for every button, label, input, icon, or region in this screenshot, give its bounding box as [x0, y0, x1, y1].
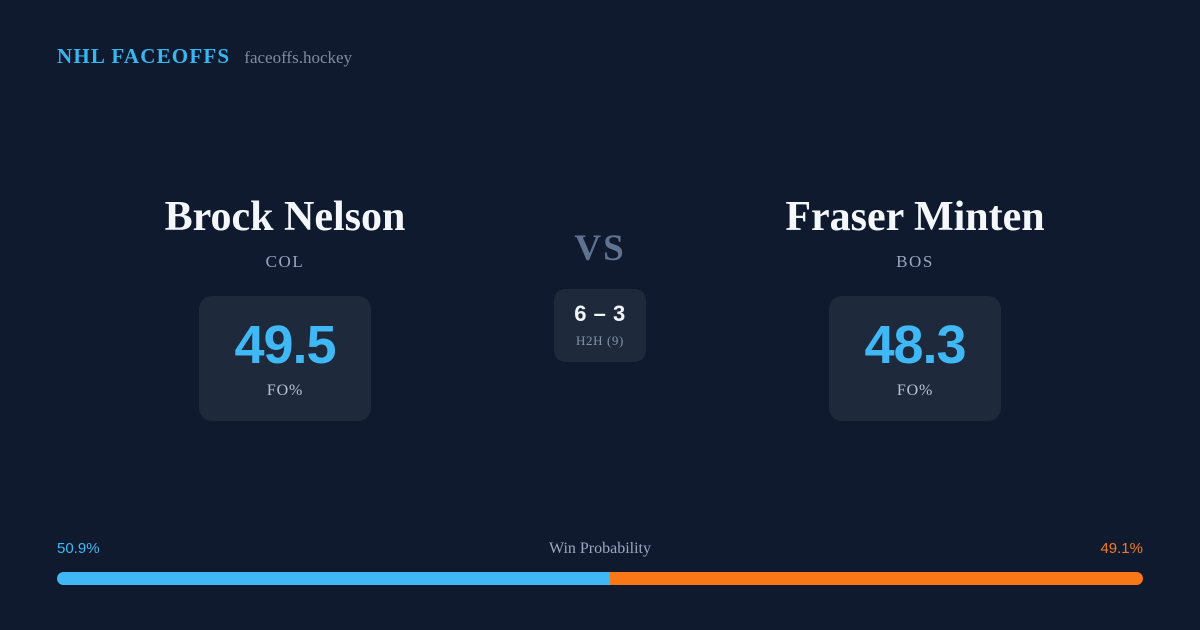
- player-card-right: Fraser Minten BOS 48.3 FO%: [675, 192, 1155, 421]
- site-header: NHL FACEOFFS faceoffs.hockey: [57, 44, 352, 69]
- win-probability-bar: [57, 572, 1143, 585]
- matchup-section: Brock Nelson COL 49.5 FO% VS 6 – 3 H2H (…: [0, 192, 1200, 421]
- stat-card-left: 49.5 FO%: [199, 296, 371, 421]
- win-probability-bar-left: [57, 572, 610, 585]
- win-probability-title: Win Probability: [549, 540, 651, 558]
- stat-value-right: 48.3: [864, 318, 965, 372]
- brand-domain: faceoffs.hockey: [244, 48, 352, 68]
- player-team-left: COL: [266, 252, 305, 272]
- head-to-head-score: 6 – 3: [574, 303, 625, 325]
- brand-title: NHL FACEOFFS: [57, 44, 230, 69]
- versus-label: VS: [574, 230, 625, 267]
- stat-label-right: FO%: [897, 382, 933, 400]
- win-probability-left-value: 50.9%: [57, 540, 100, 557]
- page-canvas: NHL FACEOFFS faceoffs.hockey Brock Nelso…: [0, 0, 1200, 630]
- win-probability-labels: 50.9% Win Probability 49.1%: [57, 540, 1143, 562]
- win-probability-bar-right: [610, 572, 1143, 585]
- stat-value-left: 49.5: [234, 318, 335, 372]
- win-probability-right-value: 49.1%: [1100, 540, 1143, 557]
- player-card-left: Brock Nelson COL 49.5 FO%: [45, 192, 525, 421]
- versus-column: VS 6 – 3 H2H (9): [525, 192, 675, 362]
- player-name-left: Brock Nelson: [165, 192, 406, 242]
- player-name-right: Fraser Minten: [785, 192, 1044, 242]
- player-team-right: BOS: [896, 252, 934, 272]
- head-to-head-label: H2H (9): [576, 333, 624, 349]
- stat-label-left: FO%: [267, 382, 303, 400]
- win-probability-section: 50.9% Win Probability 49.1%: [57, 540, 1143, 585]
- head-to-head-card: 6 – 3 H2H (9): [554, 289, 646, 362]
- stat-card-right: 48.3 FO%: [829, 296, 1001, 421]
